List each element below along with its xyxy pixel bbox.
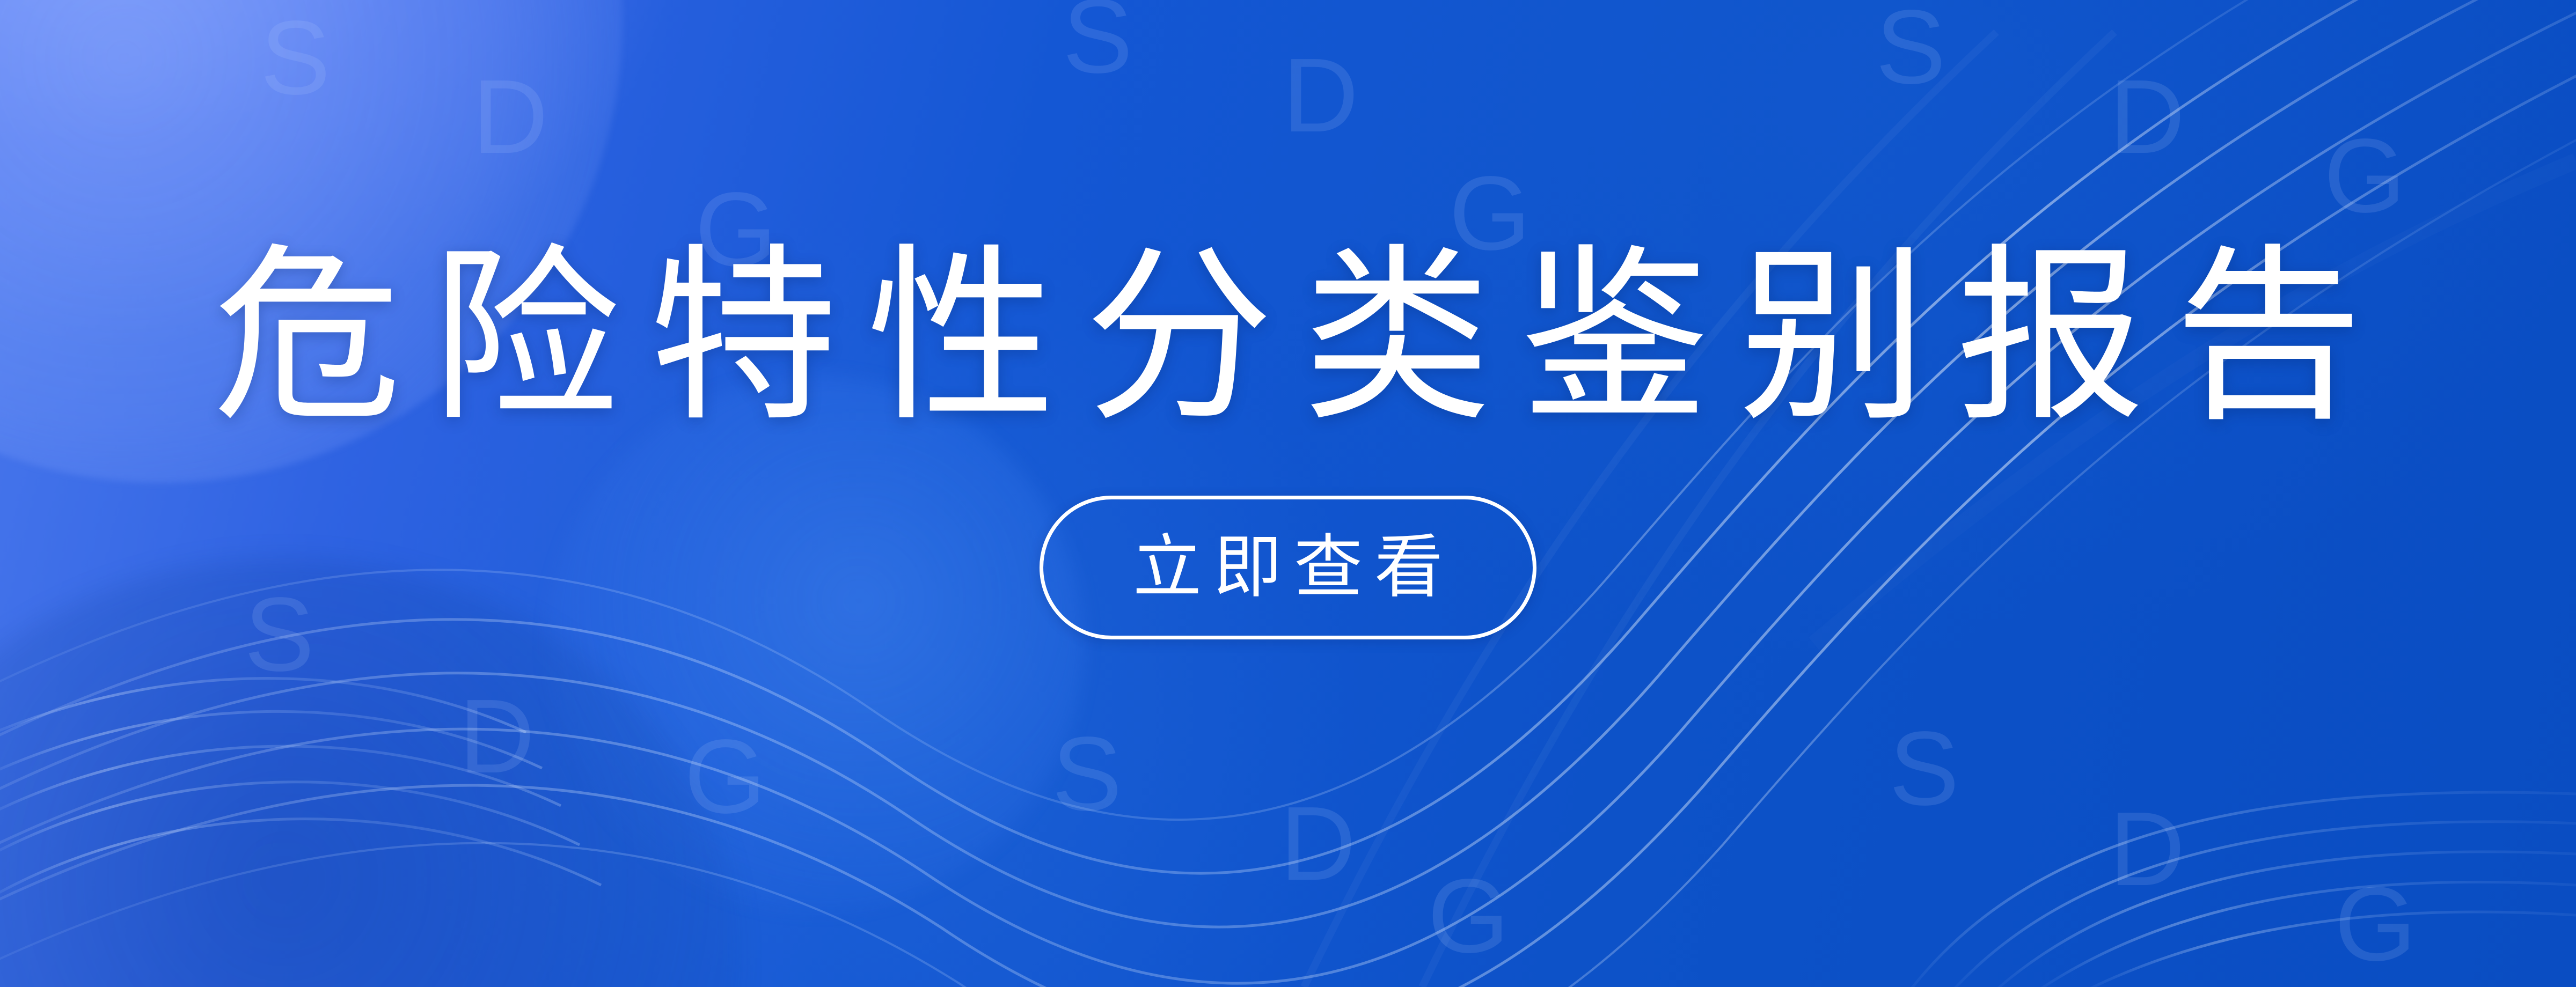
banner-content: 危险特性分类鉴别报告 立即查看 (0, 0, 2576, 987)
hazard-report-banner: SDGSDGSDGSDGSDGSDG (0, 0, 2576, 987)
page-title: 危险特性分类鉴别报告 (184, 242, 2392, 431)
view-now-button-label: 立即查看 (1121, 533, 1455, 602)
view-now-button[interactable]: 立即查看 (1040, 496, 1536, 639)
cta-container: 立即查看 (0, 496, 2576, 639)
